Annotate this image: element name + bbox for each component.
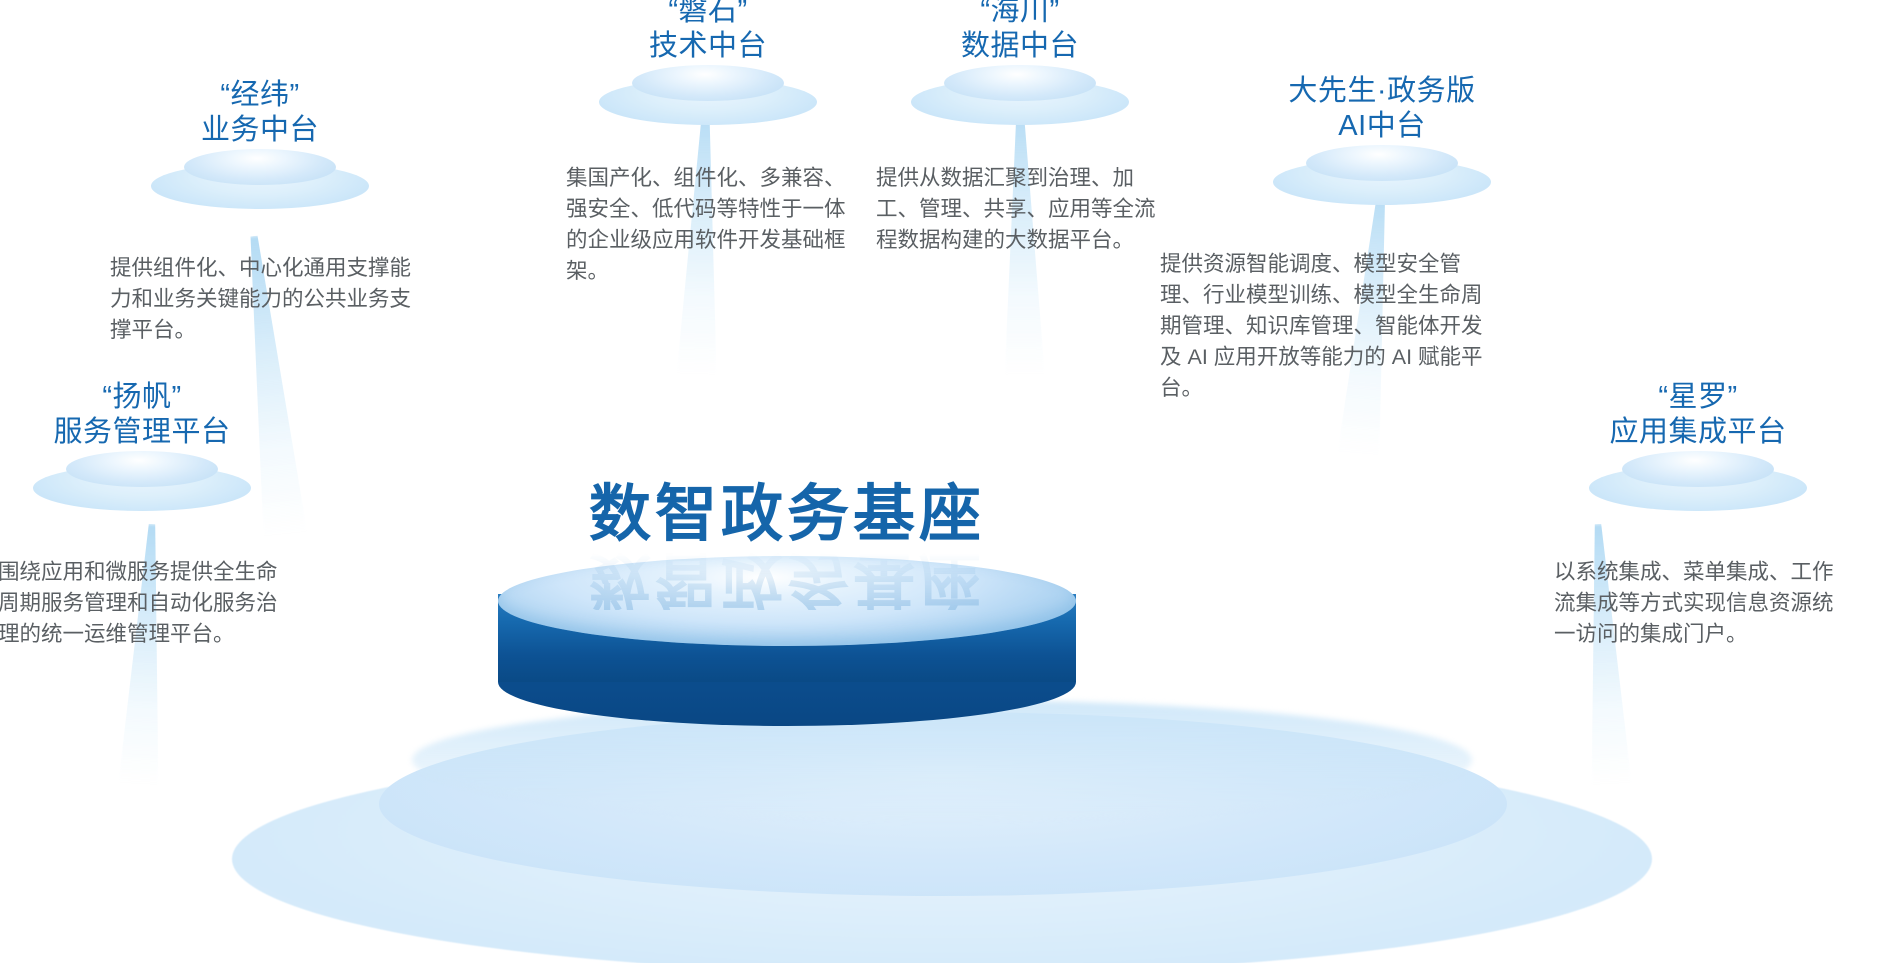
center-title-group: 数智政务基座 数智政务基座 — [498, 484, 1076, 614]
node-business-middle-platform[interactable]: “经纬” 业务中台 提供组件化、中心化通用支撑能力和业务关键能力的公共业务支撑平… — [100, 78, 420, 346]
center-title: 数智政务基座 — [498, 484, 1076, 546]
node-desc-business: 提供组件化、中心化通用支撑能力和业务关键能力的公共业务支撑平台。 — [110, 253, 420, 347]
node-application-integration-platform[interactable]: “星罗” 应用集成平台 以系统集成、菜单集成、工作流集成等方式实现信息资源统一访… — [1548, 380, 1848, 650]
saucer-inner-ellipse — [66, 451, 218, 487]
saucer-technology — [548, 65, 868, 121]
node-desc-integration: 以系统集成、菜单集成、工作流集成等方式实现信息资源统一访问的集成门户。 — [1554, 557, 1854, 651]
saucer-service — [0, 451, 292, 507]
node-title-business: “经纬” 业务中台 — [100, 78, 420, 149]
node-desc-data: 提供从数据汇聚到治理、加工、管理、共享、应用等全流程数据构建的大数据平台。 — [876, 163, 1158, 257]
node-title-ai: 大先生·政务版 AI中台 — [1222, 74, 1542, 145]
center-title-reflection: 数智政务基座 — [498, 548, 1076, 610]
node-title-technology: “磐石” 技术中台 — [548, 0, 868, 65]
saucer-inner-ellipse — [184, 149, 336, 185]
saucer-business — [100, 149, 420, 205]
node-title-data: “海川” 数据中台 — [860, 0, 1180, 65]
saucer-inner-ellipse — [632, 65, 784, 101]
node-ai-middle-platform[interactable]: 大先生·政务版 AI中台 提供资源智能调度、模型安全管理、行业模型训练、模型全生… — [1222, 74, 1542, 405]
node-desc-service: 围绕应用和微服务提供全生命周期服务管理和自动化服务治理的统一运维管理平台。 — [0, 557, 298, 651]
node-desc-technology: 集国产化、组件化、多兼容、强安全、低代码等特性于一体的企业级应用软件开发基础框架… — [566, 163, 854, 288]
diagram-canvas: “经纬” 业务中台 提供组件化、中心化通用支撑能力和业务关键能力的公共业务支撑平… — [0, 0, 1881, 963]
saucer-integration — [1548, 451, 1848, 507]
saucer-inner-ellipse — [1306, 145, 1458, 181]
node-title-service: “扬帆” 服务管理平台 — [0, 380, 292, 451]
saucer-ai — [1222, 145, 1542, 201]
saucer-inner-ellipse — [944, 65, 1096, 101]
saucer-inner-ellipse — [1622, 451, 1774, 487]
node-title-integration: “星罗” 应用集成平台 — [1548, 380, 1848, 451]
saucer-data — [860, 65, 1180, 121]
node-desc-ai: 提供资源智能调度、模型安全管理、行业模型训练、模型全生命周期管理、知识库管理、智… — [1160, 249, 1492, 405]
node-data-middle-platform[interactable]: “海川” 数据中台 提供从数据汇聚到治理、加工、管理、共享、应用等全流程数据构建… — [860, 0, 1180, 256]
node-service-management-platform[interactable]: “扬帆” 服务管理平台 围绕应用和微服务提供全生命周期服务管理和自动化服务治理的… — [0, 380, 292, 650]
node-technology-middle-platform[interactable]: “磐石” 技术中台 集国产化、组件化、多兼容、强安全、低代码等特性于一体的企业级… — [548, 0, 868, 287]
